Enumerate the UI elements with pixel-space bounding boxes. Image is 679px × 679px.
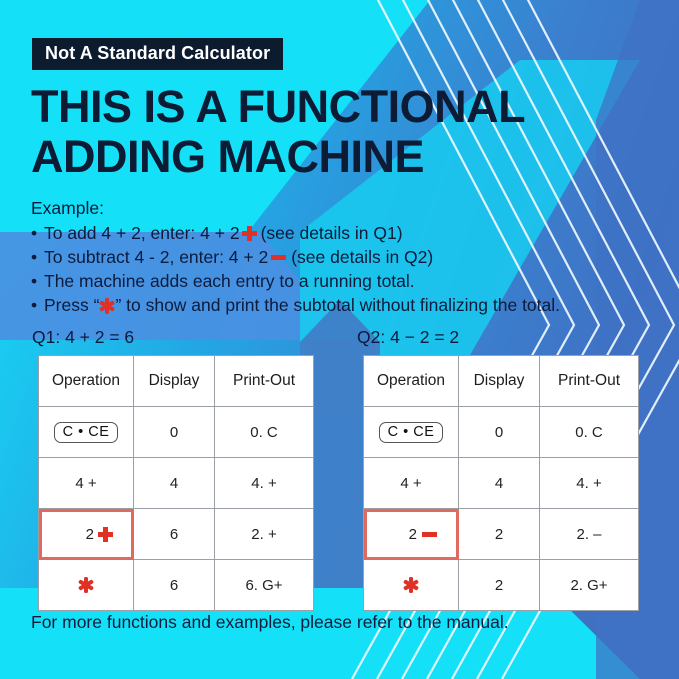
q2-row2-operation: 4 + bbox=[364, 458, 459, 509]
column-header-display: Display bbox=[459, 356, 540, 407]
column-header-display: Display bbox=[134, 356, 215, 407]
q2-row1-operation: C • CE bbox=[364, 407, 459, 458]
example-bullet-4: •Press “” to show and print the subtotal… bbox=[31, 293, 671, 317]
q2-row1-printout: 0. C bbox=[540, 407, 639, 458]
example-bullet-1: •To add 4 + 2, enter: 4 + 2(see details … bbox=[31, 221, 671, 245]
content-layer: Not A Standard Calculator THIS IS A FUNC… bbox=[0, 0, 679, 679]
table-header-row: Operation Display Print-Out bbox=[364, 356, 639, 407]
q2-row2-printout: 4. + bbox=[540, 458, 639, 509]
q1-row4-operation bbox=[39, 560, 134, 611]
plus-icon bbox=[98, 527, 113, 542]
q2-row4-printout: 2. G+ bbox=[540, 560, 639, 611]
q2-row4-display: 2 bbox=[459, 560, 540, 611]
column-header-printout: Print-Out bbox=[540, 356, 639, 407]
q2-row3-display: 2 bbox=[459, 509, 540, 560]
bullet-2-post: (see details in Q2) bbox=[291, 247, 433, 267]
q1-caption: Q1: 4 + 2 = 6 bbox=[32, 327, 134, 348]
column-header-operation: Operation bbox=[39, 356, 134, 407]
table-row: 6 6. G+ bbox=[39, 560, 314, 611]
example-label: Example: bbox=[31, 196, 671, 220]
clear-entry-key: C • CE bbox=[54, 422, 119, 443]
bullet-4-pre: Press “ bbox=[44, 295, 99, 315]
q2-row3-op-content: 2 bbox=[364, 526, 458, 543]
star-icon bbox=[100, 299, 114, 313]
q1-row4-display: 6 bbox=[134, 560, 215, 611]
q1-row3-printout: 2. + bbox=[215, 509, 314, 560]
poster: Not A Standard Calculator THIS IS A FUNC… bbox=[0, 0, 679, 679]
q2-row3-operation-highlighted: 2 bbox=[364, 509, 459, 560]
table-row: C • CE 0 0. C bbox=[364, 407, 639, 458]
q1-row3-op-content: 2 bbox=[39, 526, 133, 543]
headline-line-1: THIS IS A FUNCTIONAL bbox=[31, 82, 651, 132]
q1-row3-operand: 2 bbox=[86, 526, 94, 543]
q1-row2-operation: 4 + bbox=[39, 458, 134, 509]
minus-icon bbox=[271, 255, 286, 260]
example-bullet-3: •The machine adds each entry to a runnin… bbox=[31, 269, 671, 293]
bullet-dot: • bbox=[31, 293, 44, 317]
headline-line-2: ADDING MACHINE bbox=[31, 132, 651, 182]
q2-row3-printout: 2. – bbox=[540, 509, 639, 560]
column-header-operation: Operation bbox=[364, 356, 459, 407]
star-icon bbox=[404, 578, 418, 592]
column-header-printout: Print-Out bbox=[215, 356, 314, 407]
q2-row4-operation bbox=[364, 560, 459, 611]
q2-row2-display: 4 bbox=[459, 458, 540, 509]
example-block: Example: •To add 4 + 2, enter: 4 + 2(see… bbox=[31, 196, 671, 317]
eyebrow-badge: Not A Standard Calculator bbox=[32, 38, 283, 70]
q1-row3-operation-highlighted: 2 bbox=[39, 509, 134, 560]
footer-note: For more functions and examples, please … bbox=[31, 612, 509, 633]
table-header-row: Operation Display Print-Out bbox=[39, 356, 314, 407]
q1-row2-printout: 4. + bbox=[215, 458, 314, 509]
bullet-dot: • bbox=[31, 269, 44, 293]
q1-row1-display: 0 bbox=[134, 407, 215, 458]
page-title: THIS IS A FUNCTIONAL ADDING MACHINE bbox=[31, 82, 651, 183]
bullet-2-pre: To subtract 4 - 2, enter: 4 + 2 bbox=[44, 247, 268, 267]
table-row: 4 + 4 4. + bbox=[364, 458, 639, 509]
bullet-dot: • bbox=[31, 245, 44, 269]
q1-row3-display: 6 bbox=[134, 509, 215, 560]
q2-row1-display: 0 bbox=[459, 407, 540, 458]
bullet-3-pre: The machine adds each entry to a running… bbox=[44, 271, 415, 291]
table-row: 2 2 2. – bbox=[364, 509, 639, 560]
q2-caption: Q2: 4 − 2 = 2 bbox=[357, 327, 459, 348]
bullet-dot: • bbox=[31, 221, 44, 245]
q1-row1-operation: C • CE bbox=[39, 407, 134, 458]
example-bullet-2: •To subtract 4 - 2, enter: 4 + 2(see det… bbox=[31, 245, 671, 269]
table-row: 4 + 4 4. + bbox=[39, 458, 314, 509]
q2-row3-operand: 2 bbox=[409, 526, 417, 543]
minus-icon bbox=[422, 532, 437, 537]
table-row: 2 6 2. + bbox=[39, 509, 314, 560]
clear-entry-key: C • CE bbox=[379, 422, 444, 443]
table-row: 2 2. G+ bbox=[364, 560, 639, 611]
bullet-1-pre: To add 4 + 2, enter: 4 + 2 bbox=[44, 223, 240, 243]
bullet-4-post: ” to show and print the subtotal without… bbox=[115, 295, 560, 315]
q1-row4-printout: 6. G+ bbox=[215, 560, 314, 611]
table-row: C • CE 0 0. C bbox=[39, 407, 314, 458]
q1-row2-display: 4 bbox=[134, 458, 215, 509]
q2-table: Operation Display Print-Out C • CE 0 0. … bbox=[363, 355, 639, 611]
q1-row1-printout: 0. C bbox=[215, 407, 314, 458]
q1-table: Operation Display Print-Out C • CE 0 0. … bbox=[38, 355, 314, 611]
star-icon bbox=[79, 578, 93, 592]
bullet-1-post: (see details in Q1) bbox=[261, 223, 403, 243]
plus-icon bbox=[242, 226, 257, 241]
